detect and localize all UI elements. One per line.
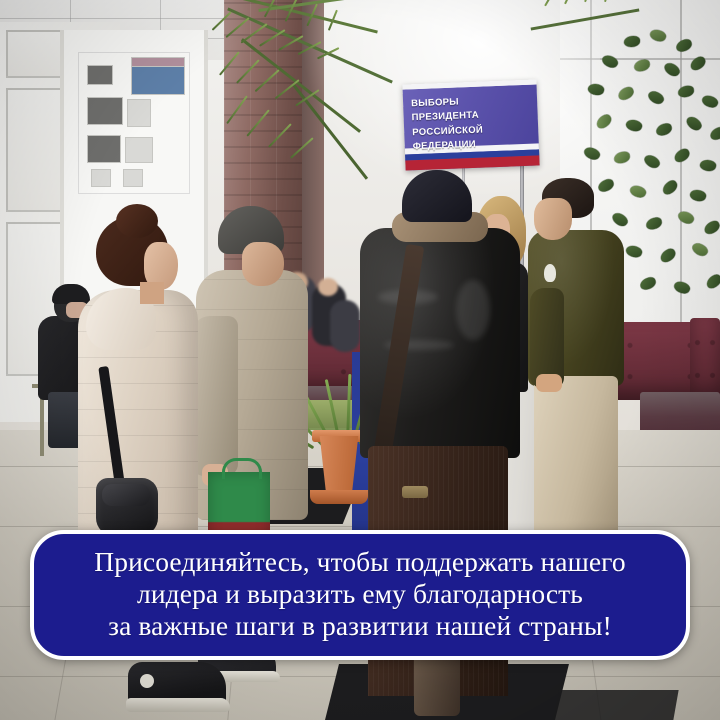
caption-text: Присоединяйтесь, чтобы поддержать нашего… (52, 546, 668, 642)
election-sign-text: ВЫБОРЫ ПРЕЗИДЕНТА РОССИЙСКОЙ ФЕДЕРАЦИИ (411, 93, 531, 154)
accent-floor-tile (553, 690, 678, 720)
sneaker-star-icon (140, 674, 154, 688)
video-frame: ВЫБОРЫ ПРЕЗИДЕНТА РОССИЙСКОЙ ФЕДЕРАЦИИ 0… (0, 0, 720, 720)
bench-far-right (690, 318, 720, 400)
background-person (330, 300, 360, 352)
sneaker-front (128, 662, 226, 710)
person-man-leather-jacket (360, 170, 520, 570)
person-young-man-olive (528, 178, 628, 568)
background-person (318, 278, 338, 296)
caption-banner: Присоединяйтесь, чтобы поддержать нашего… (30, 530, 690, 660)
election-sign: ВЫБОРЫ ПРЕЗИДЕНТА РОССИЙСКОЙ ФЕДЕРАЦИИ (402, 79, 539, 170)
